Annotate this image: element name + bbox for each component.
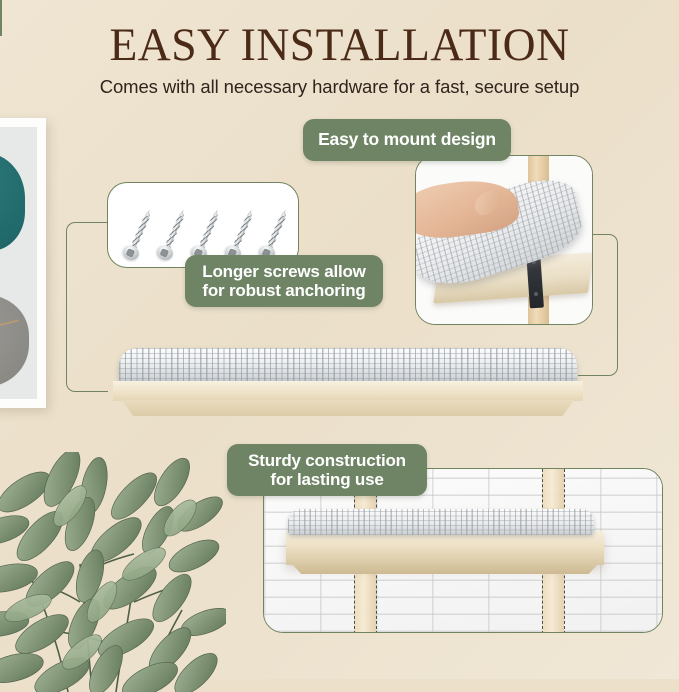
screw-head-icon (120, 243, 140, 262)
badge-easy-to-mount-design: Easy to mount design (303, 119, 511, 161)
hand-mounting-cushion-panel (415, 155, 593, 325)
screw-icon (124, 211, 152, 259)
screw-thread-icon (232, 215, 251, 249)
brick-panel-cushion (288, 509, 594, 535)
screw-thread-icon (198, 215, 217, 249)
screw-thread-icon (164, 215, 183, 249)
badge-longer-screws: Longer screws allow for robust anchoring (185, 255, 383, 307)
art-teal-shape (0, 153, 25, 251)
screw-thread-icon (130, 215, 149, 249)
screw-icon (226, 211, 254, 259)
screw-icon (260, 211, 288, 259)
plant-stems (32, 554, 184, 692)
plant-leaves-highlight (1, 481, 202, 675)
connector-line-left (66, 222, 108, 392)
badge-label-line-1: Longer screws allow (202, 262, 365, 281)
screw-icon (158, 211, 186, 259)
screw-icon (192, 211, 220, 259)
badge-label-wrap: Longer screws allow for robust anchoring (202, 262, 365, 300)
page-title: EASY INSTALLATION (10, 20, 669, 71)
brick-panel-shelf (286, 531, 604, 565)
art-mat (0, 127, 37, 399)
badge-label-line-1: Sturdy construction (248, 451, 406, 470)
easy-installation-infographic: EASY INSTALLATION Comes with all necessa… (0, 0, 679, 679)
shelf-front-edge (122, 400, 574, 416)
rubber-plant-foliage (0, 452, 226, 692)
badge-label-wrap: Sturdy construction for lasting use (248, 451, 406, 489)
framed-art-print (0, 118, 46, 408)
art-grey-shape (0, 295, 29, 387)
page-subtitle: Comes with all necessary hardware for a … (0, 76, 679, 98)
plant-leaves (0, 452, 226, 692)
screw-head-icon (154, 243, 174, 262)
quilted-cushion-pad (119, 348, 577, 384)
badge-label-line-2: for lasting use (248, 470, 406, 489)
badge-label: Easy to mount design (318, 130, 496, 150)
badge-label-line-2: for robust anchoring (202, 281, 365, 300)
header-block: EASY INSTALLATION Comes with all necessa… (0, 0, 679, 98)
floating-wood-shelf (113, 348, 583, 418)
badge-sturdy-construction: Sturdy construction for lasting use (227, 444, 427, 496)
screw-thread-icon (266, 215, 285, 249)
mount-thumb (470, 185, 506, 219)
shelf-top-board (113, 381, 583, 401)
